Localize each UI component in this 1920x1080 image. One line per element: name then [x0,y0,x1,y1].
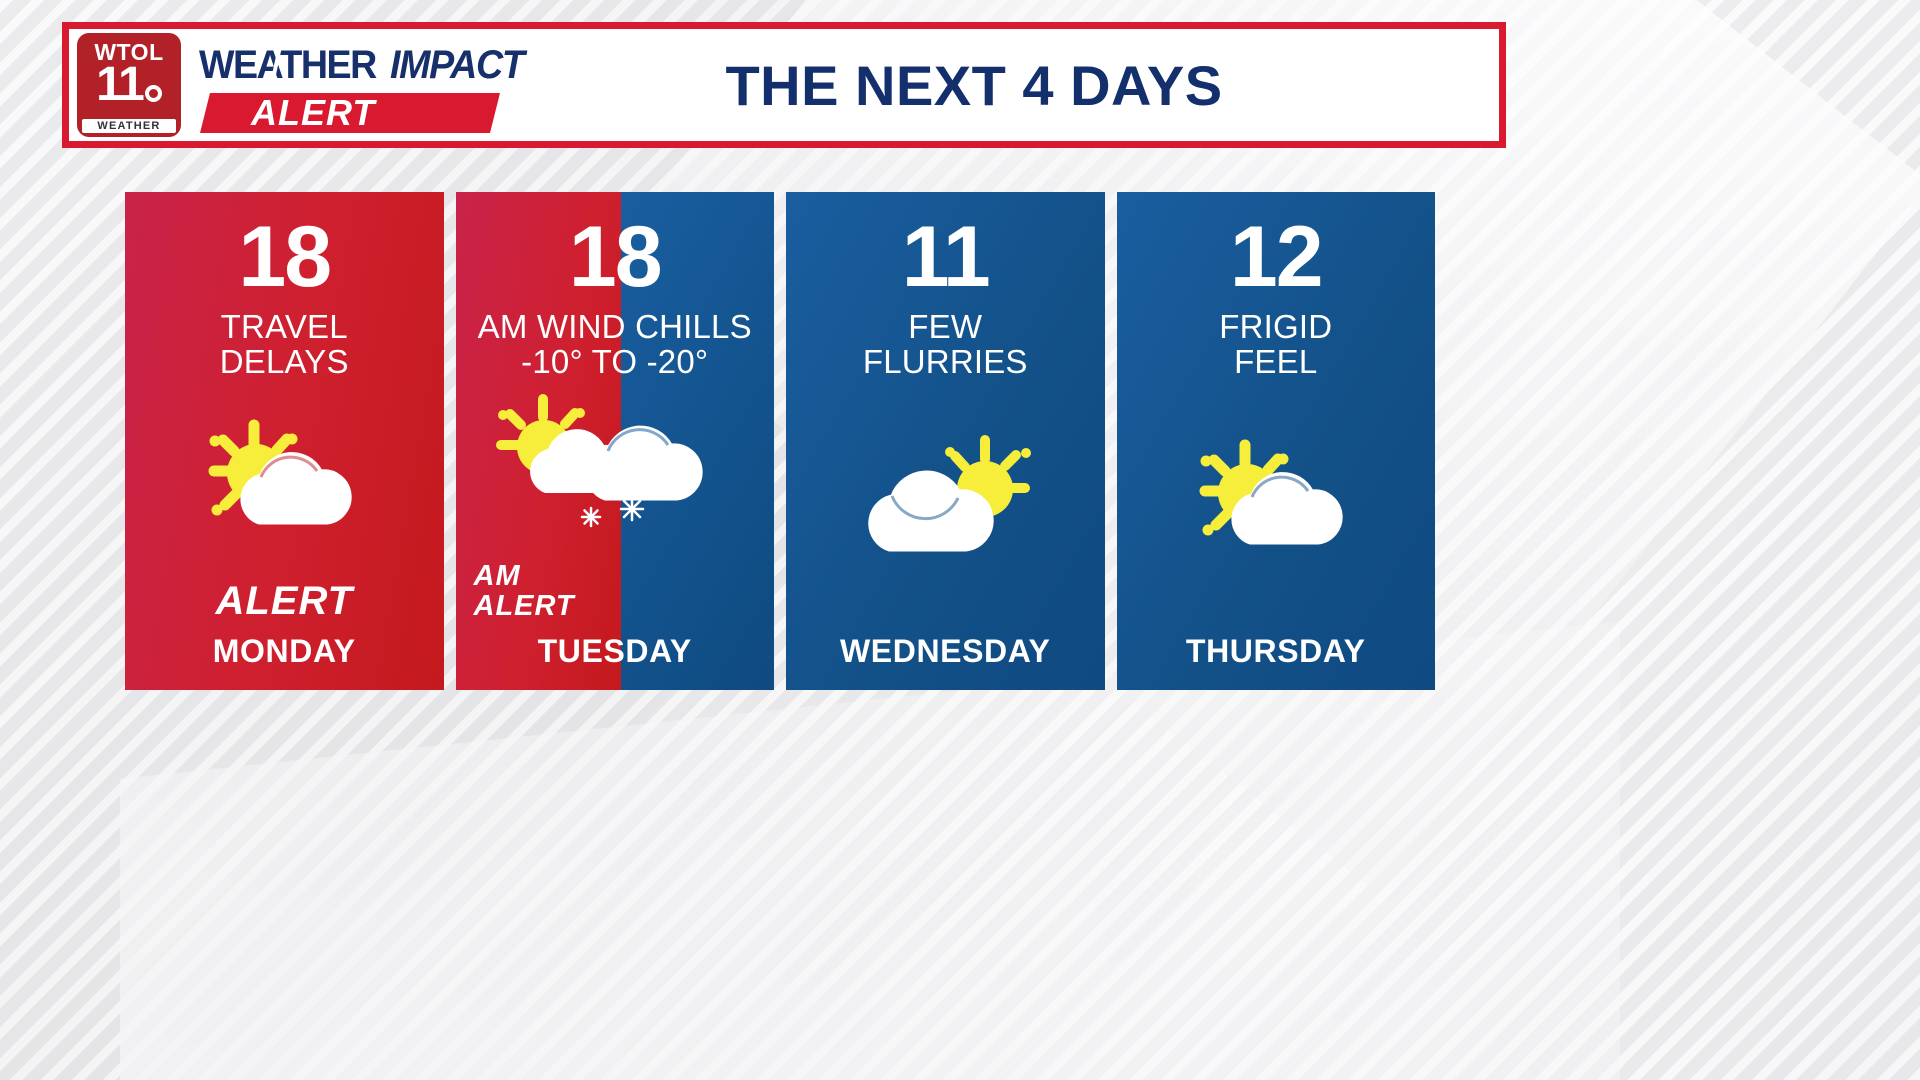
weather-impact-alert-wordmark: WEATHER IMPACT ALERT [199,33,489,137]
station-channel-number: 11 [96,63,143,107]
forecast-card-tuesday[interactable]: 18 AM WIND CHILLS -10° TO -20° [456,192,775,690]
wordmark-impact: IMPACT [390,45,523,85]
wordmark-top-line: WEATHER IMPACT [199,33,489,85]
sun-cloud-snow-icon [456,376,775,561]
sun-behind-cloud-icon [1117,376,1436,621]
temperature-value: 18 [238,214,330,300]
station-channel-row: 11 [96,63,162,107]
forecast-card-thursday[interactable]: 12 FRIGID FEEL [1117,192,1436,690]
alert-tag: ALERT [125,581,444,621]
sun-behind-cloud-icon [125,376,444,581]
day-label: THURSDAY [1117,633,1436,690]
day-label: MONDAY [125,633,444,690]
forecast-card-monday[interactable]: 18 TRAVEL DELAYS [125,192,444,690]
cloud-with-sun-behind-icon [786,376,1105,621]
condition-text: FEW FLURRIES [863,310,1028,380]
page-title: THE NEXT 4 DAYS [489,53,1499,118]
temperature-value: 11 [902,214,989,300]
cbs-eye-icon [145,85,162,102]
condition-text: TRAVEL DELAYS [220,310,349,380]
wordmark-weather: WEATHER [199,45,376,85]
condition-text: FRIGID FEEL [1219,310,1332,380]
station-logo: WTOL 11 WEATHER [77,33,181,137]
alert-tag: AM ALERT [456,561,775,621]
temperature-value: 18 [569,214,661,300]
day-label: WEDNESDAY [786,633,1105,690]
station-sub-label: WEATHER [82,119,176,133]
forecast-card-row: 18 TRAVEL DELAYS [125,192,1435,690]
day-label: TUESDAY [456,633,775,690]
forecast-card-wednesday[interactable]: 11 FEW FLURRIES [786,192,1105,690]
wordmark-alert: ALERT [251,93,375,133]
header-bar: WTOL 11 WEATHER WEATHER IMPACT ALERT THE… [62,22,1506,148]
condition-text: AM WIND CHILLS -10° TO -20° [478,310,752,380]
temperature-value: 12 [1230,214,1322,300]
weather-forecast-graphic: WTOL 11 WEATHER WEATHER IMPACT ALERT THE… [0,0,1920,1080]
